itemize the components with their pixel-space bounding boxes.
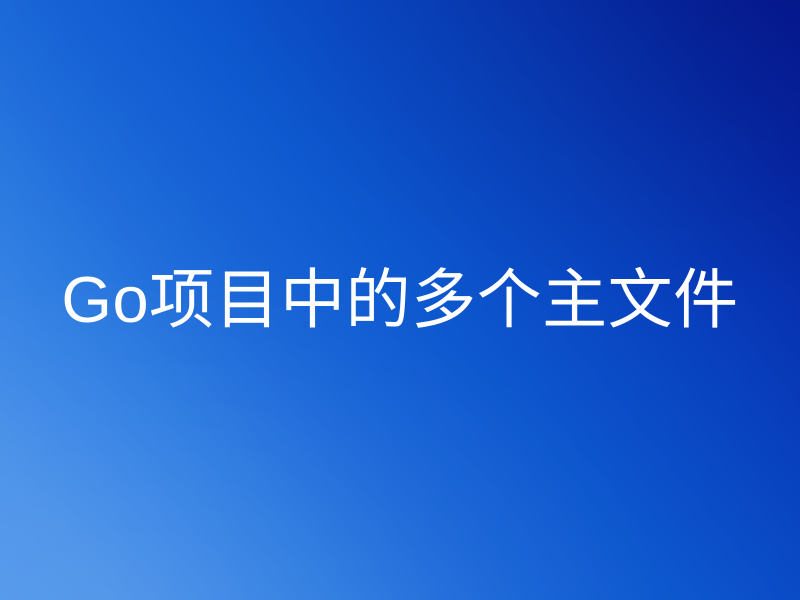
title-slide: Go项目中的多个主文件 [0, 0, 800, 600]
page-title: Go项目中的多个主文件 [61, 265, 738, 335]
title-block: Go项目中的多个主文件 [0, 0, 800, 600]
